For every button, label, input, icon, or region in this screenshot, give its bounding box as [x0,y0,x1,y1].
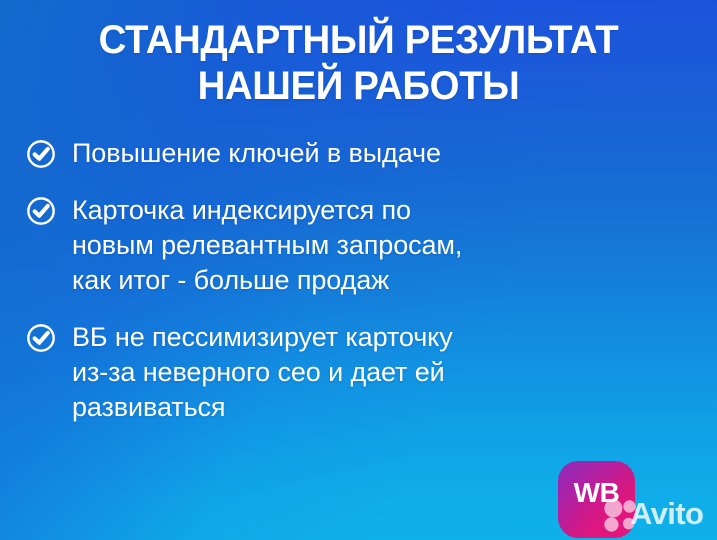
list-item-line: как итог - больше продаж [72,263,684,298]
list-item-line: развиваться [72,390,684,425]
headline-line-1: СТАНДАРТНЫЙ РЕЗУЛЬТАТ [14,17,702,63]
list-item-line: новым релевантным запросам, [72,228,684,263]
promo-poster: СТАНДАРТНЫЙ РЕЗУЛЬТАТ НАШЕЙ РАБОТЫ Повыш… [0,0,717,540]
list-item-line: из-за неверного сео и дает ей [72,355,684,390]
list-item: Карточка индексируется по новым релевант… [24,193,684,298]
list-item-line: Повышение ключей в выдаче [72,136,684,171]
headline-line-2: НАШЕЙ РАБОТЫ [14,63,702,109]
avito-watermark: Avito [601,492,717,538]
list-item-line: ВБ не пессимизирует карточку [72,320,684,355]
list-item-line: Карточка индексируется по [72,193,684,228]
list-item-text: Карточка индексируется по новым релевант… [72,193,684,298]
avito-watermark-label: Avito [630,497,703,531]
check-circle-icon [26,196,56,226]
check-circle-icon [26,139,56,169]
page-title: СТАНДАРТНЫЙ РЕЗУЛЬТАТ НАШЕЙ РАБОТЫ [14,17,702,109]
check-circle-icon [26,323,56,353]
list-item: ВБ не пессимизирует карточку из-за невер… [24,320,684,425]
list-item: Повышение ключей в выдаче [24,136,684,171]
list-item-text: Повышение ключей в выдаче [72,136,684,171]
list-item-text: ВБ не пессимизирует карточку из-за невер… [72,320,684,425]
benefit-list: Повышение ключей в выдаче Карточка индек… [24,136,684,425]
